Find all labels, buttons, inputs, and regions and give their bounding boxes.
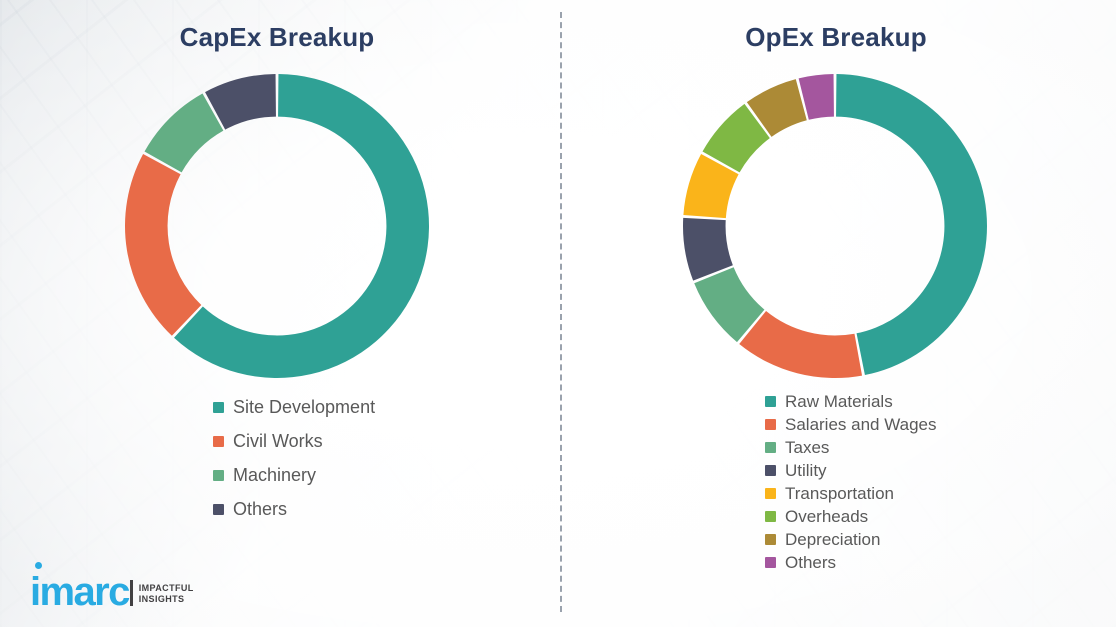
legend-swatch-icon	[213, 504, 224, 515]
legend-swatch-icon	[765, 396, 776, 407]
legend-swatch-icon	[765, 442, 776, 453]
imarc-logo: imarc IMPACTFUL INSIGHTS	[30, 569, 194, 611]
legend-swatch-icon	[765, 557, 776, 568]
legend-item-label: Depreciation	[785, 531, 880, 548]
legend-item-label: Others	[233, 500, 287, 518]
opex-title: OpEx Breakup	[560, 22, 1116, 53]
legend-item[interactable]: Depreciation	[765, 528, 937, 551]
legend-item[interactable]: Overheads	[765, 505, 937, 528]
capex-panel: CapEx Breakup Site DevelopmentCivil Work…	[0, 0, 560, 627]
donut-slice[interactable]	[145, 94, 224, 173]
legend-swatch-icon	[213, 402, 224, 413]
logo-divider-bar	[130, 580, 133, 606]
legend-item[interactable]: Raw Materials	[765, 390, 937, 413]
donut-slice[interactable]	[836, 74, 987, 375]
slide-canvas: CapEx Breakup Site DevelopmentCivil Work…	[0, 0, 1116, 627]
legend-swatch-icon	[765, 488, 776, 499]
legend-item-label: Raw Materials	[785, 393, 893, 410]
legend-swatch-icon	[213, 470, 224, 481]
legend-item-label: Civil Works	[233, 432, 323, 450]
legend-swatch-icon	[765, 465, 776, 476]
logo-wordmark-text: imarc	[30, 570, 129, 614]
legend-swatch-icon	[213, 436, 224, 447]
logo-tagline-line2: INSIGHTS	[139, 594, 194, 605]
legend-item-label: Utility	[785, 462, 827, 479]
opex-donut-svg	[680, 71, 990, 381]
legend-item-label: Salaries and Wages	[785, 416, 937, 433]
capex-donut-chart	[122, 71, 432, 381]
opex-panel: OpEx Breakup Raw MaterialsSalaries and W…	[560, 0, 1116, 627]
logo-wordmark: imarc	[30, 574, 129, 611]
legend-item[interactable]: Site Development	[213, 390, 375, 424]
legend-item-label: Others	[785, 554, 836, 571]
logo-tagline: IMPACTFUL INSIGHTS	[139, 583, 194, 606]
legend-item[interactable]: Others	[765, 551, 937, 574]
legend-item-label: Site Development	[233, 398, 375, 416]
legend-item[interactable]: Civil Works	[213, 424, 375, 458]
logo-tagline-line1: IMPACTFUL	[139, 583, 194, 594]
legend-swatch-icon	[765, 534, 776, 545]
legend-item[interactable]: Taxes	[765, 436, 937, 459]
donut-slice[interactable]	[125, 154, 201, 336]
capex-donut-svg	[122, 71, 432, 381]
legend-item[interactable]: Transportation	[765, 482, 937, 505]
legend-item[interactable]: Salaries and Wages	[765, 413, 937, 436]
legend-item-label: Transportation	[785, 485, 894, 502]
opex-legend: Raw MaterialsSalaries and WagesTaxesUtil…	[765, 390, 937, 574]
legend-item-label: Overheads	[785, 508, 868, 525]
donut-slice[interactable]	[739, 311, 862, 378]
legend-item-label: Machinery	[233, 466, 316, 484]
legend-item[interactable]: Others	[213, 492, 375, 526]
legend-swatch-icon	[765, 511, 776, 522]
legend-item-label: Taxes	[785, 439, 829, 456]
legend-item[interactable]: Machinery	[213, 458, 375, 492]
opex-donut-chart	[680, 71, 990, 381]
legend-item[interactable]: Utility	[765, 459, 937, 482]
logo-dot-icon	[35, 562, 42, 569]
legend-swatch-icon	[765, 419, 776, 430]
capex-title: CapEx Breakup	[0, 22, 560, 53]
capex-legend: Site DevelopmentCivil WorksMachineryOthe…	[213, 390, 375, 526]
